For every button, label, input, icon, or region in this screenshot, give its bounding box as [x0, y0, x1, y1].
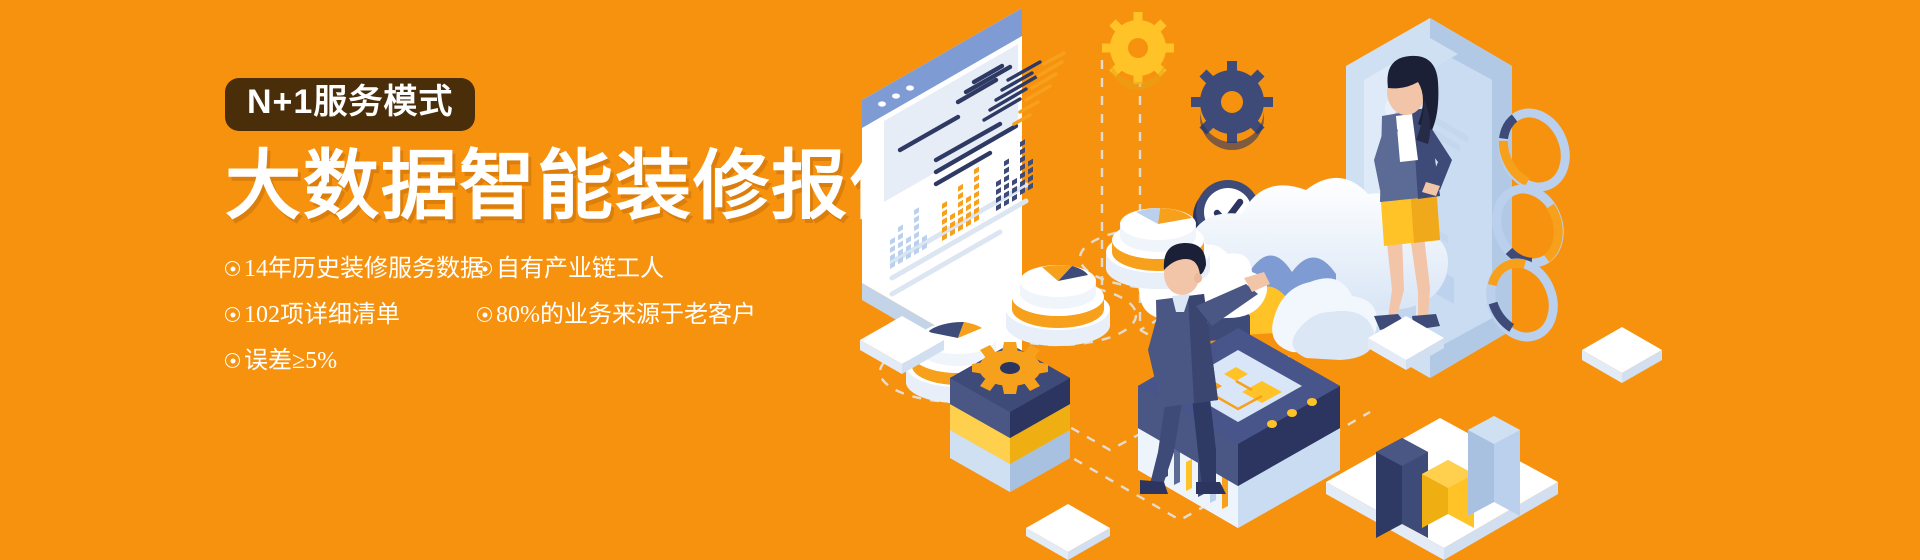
circled-dot-icon	[225, 307, 240, 322]
list-item-label: 14年历史装修服务数据	[244, 257, 484, 281]
list-item-label: 102项详细清单	[244, 303, 400, 327]
list-item: 误差≥5%	[225, 349, 477, 373]
circled-dot-icon	[225, 261, 240, 276]
list-item: 102项详细清单	[225, 303, 477, 327]
list-item: 80%的业务来源于老客户	[477, 303, 797, 327]
circled-dot-icon	[477, 307, 492, 322]
list-item: 自有产业链工人	[477, 257, 797, 281]
list-item: 14年历史装修服务数据	[225, 257, 477, 281]
list-item-label: 误差≥5%	[244, 349, 337, 373]
service-model-badge: N+1服务模式	[225, 78, 475, 131]
promo-banner: N+1服务模式 大数据智能装修报价 14年历史装修服务数据 102项详细清单 误…	[0, 0, 1920, 560]
feature-column-right: 自有产业链工人 80%的业务来源于老客户	[477, 257, 797, 349]
gear-navy-icon	[1191, 61, 1273, 150]
feature-column-left: 14年历史装修服务数据 102项详细清单 误差≥5%	[225, 257, 477, 395]
circled-dot-icon	[225, 353, 240, 368]
list-item-label: 80%的业务来源于老客户	[496, 303, 756, 327]
isometric-big-data-illustration	[840, 0, 1920, 560]
circled-dot-icon	[477, 261, 492, 276]
list-item-label: 自有产业链工人	[496, 257, 664, 281]
bar-chart-3d	[1326, 416, 1558, 560]
